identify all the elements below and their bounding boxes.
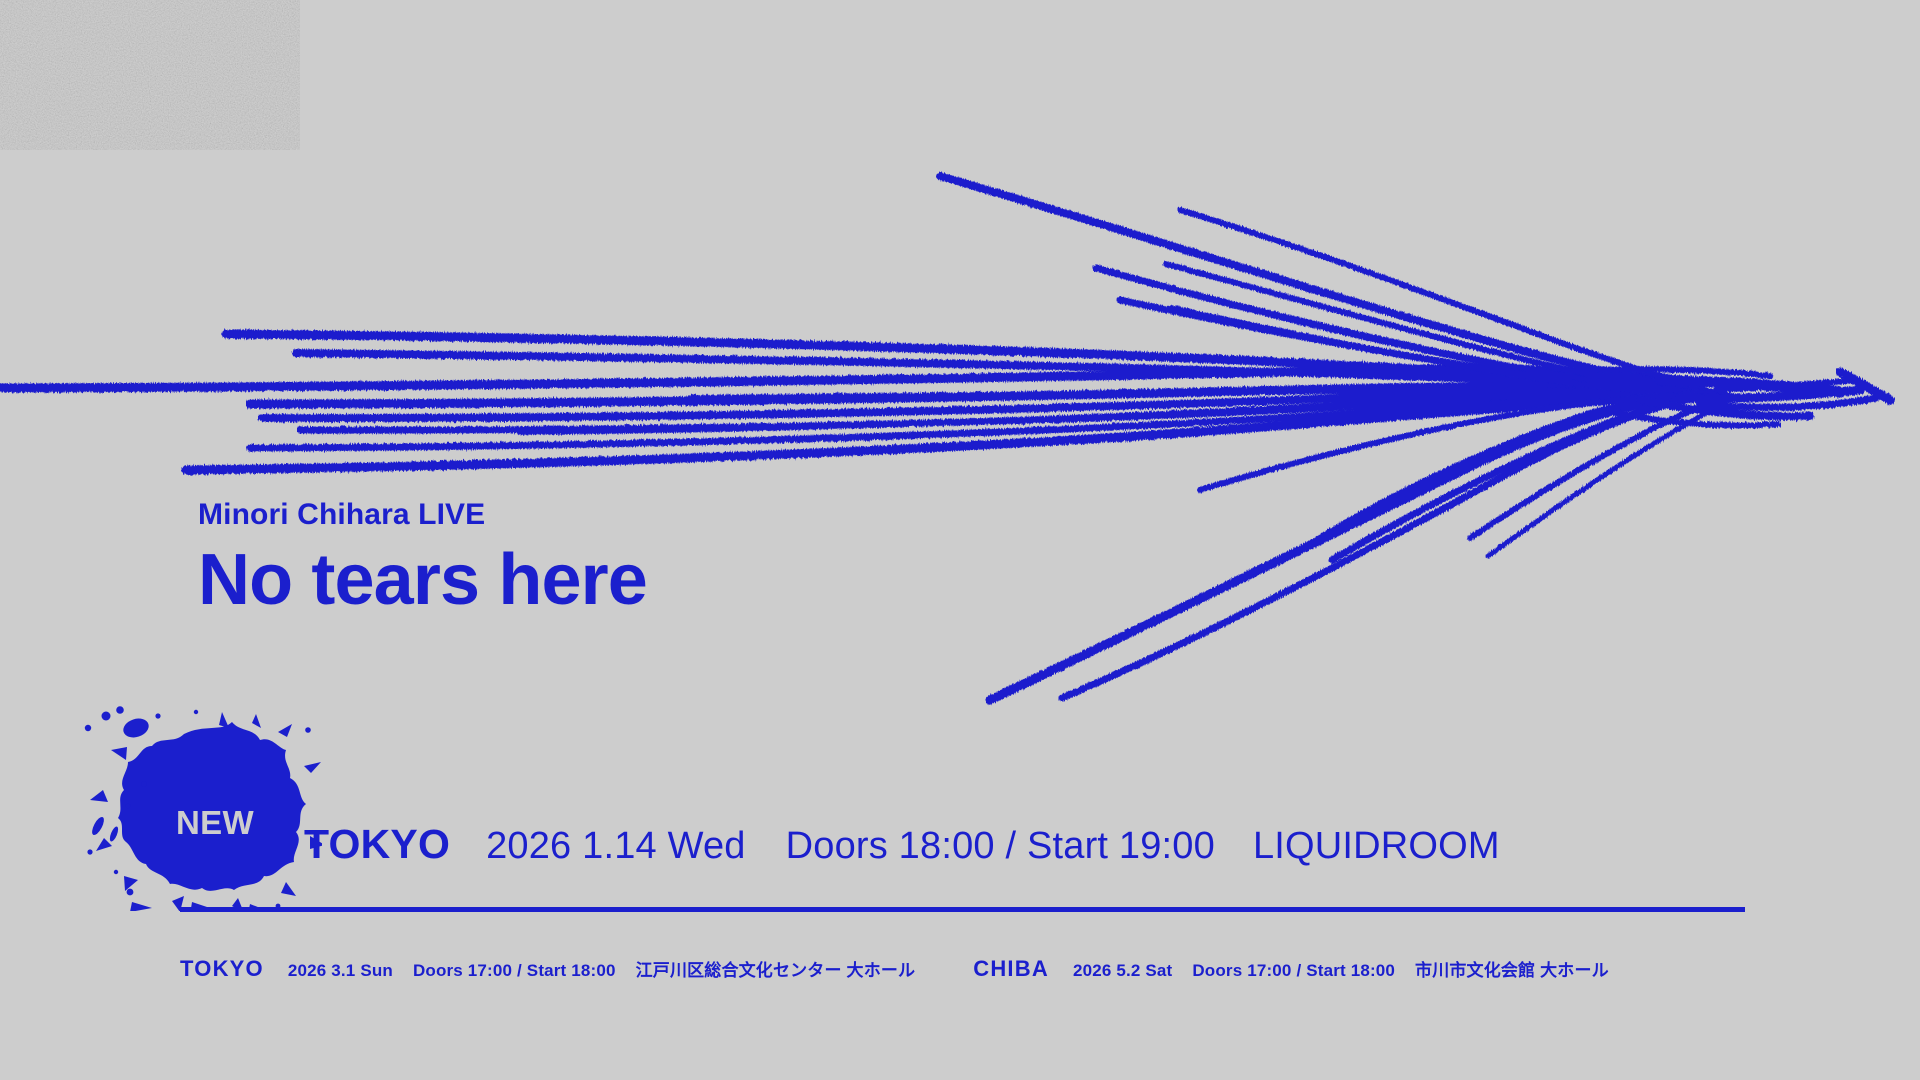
headline-times: Doors 18:00 / Start 19:00 xyxy=(786,827,1215,865)
divider-rule xyxy=(180,907,1745,912)
paper-grain-overlay-light xyxy=(0,0,300,150)
page-title: No tears here xyxy=(198,544,647,616)
sub-show-times: Doors 17:00 / Start 18:00 xyxy=(413,962,616,979)
paper-grain-overlay xyxy=(0,0,300,150)
headline-venue: LIQUIDROOM xyxy=(1253,827,1500,865)
new-badge-label: NEW xyxy=(176,806,254,839)
sub-show-tokyo: TOKYO 2026 3.1 Sun Doors 17:00 / Start 1… xyxy=(180,958,915,980)
sub-show-chiba: CHIBA 2026 5.2 Sat Doors 17:00 / Start 1… xyxy=(973,958,1609,980)
sub-show-city: TOKYO xyxy=(180,958,264,980)
headline-date: 2026 1.14 Wed xyxy=(486,827,746,865)
sub-show-date: 2026 5.2 Sat xyxy=(1073,962,1172,979)
headline-city: TOKYO xyxy=(304,824,450,865)
sub-show-date: 2026 3.1 Sun xyxy=(288,962,393,979)
new-badge: NEW xyxy=(180,810,304,858)
sub-show-venue: 市川市文化会館 大ホール xyxy=(1415,962,1609,979)
artist-eyebrow: Minori Chihara LIVE xyxy=(198,500,647,530)
sub-show-venue: 江戸川区総合文化センター 大ホール xyxy=(636,962,916,979)
sub-show-times: Doors 17:00 / Start 18:00 xyxy=(1192,962,1395,979)
sub-shows-row: TOKYO 2026 3.1 Sun Doors 17:00 / Start 1… xyxy=(180,958,1609,980)
sub-show-city: CHIBA xyxy=(973,958,1049,980)
headline-show-row: NEW TOKYO 2026 1.14 Wed Doors 18:00 / St… xyxy=(180,810,1500,865)
title-block: Minori Chihara LIVE No tears here xyxy=(198,500,647,616)
